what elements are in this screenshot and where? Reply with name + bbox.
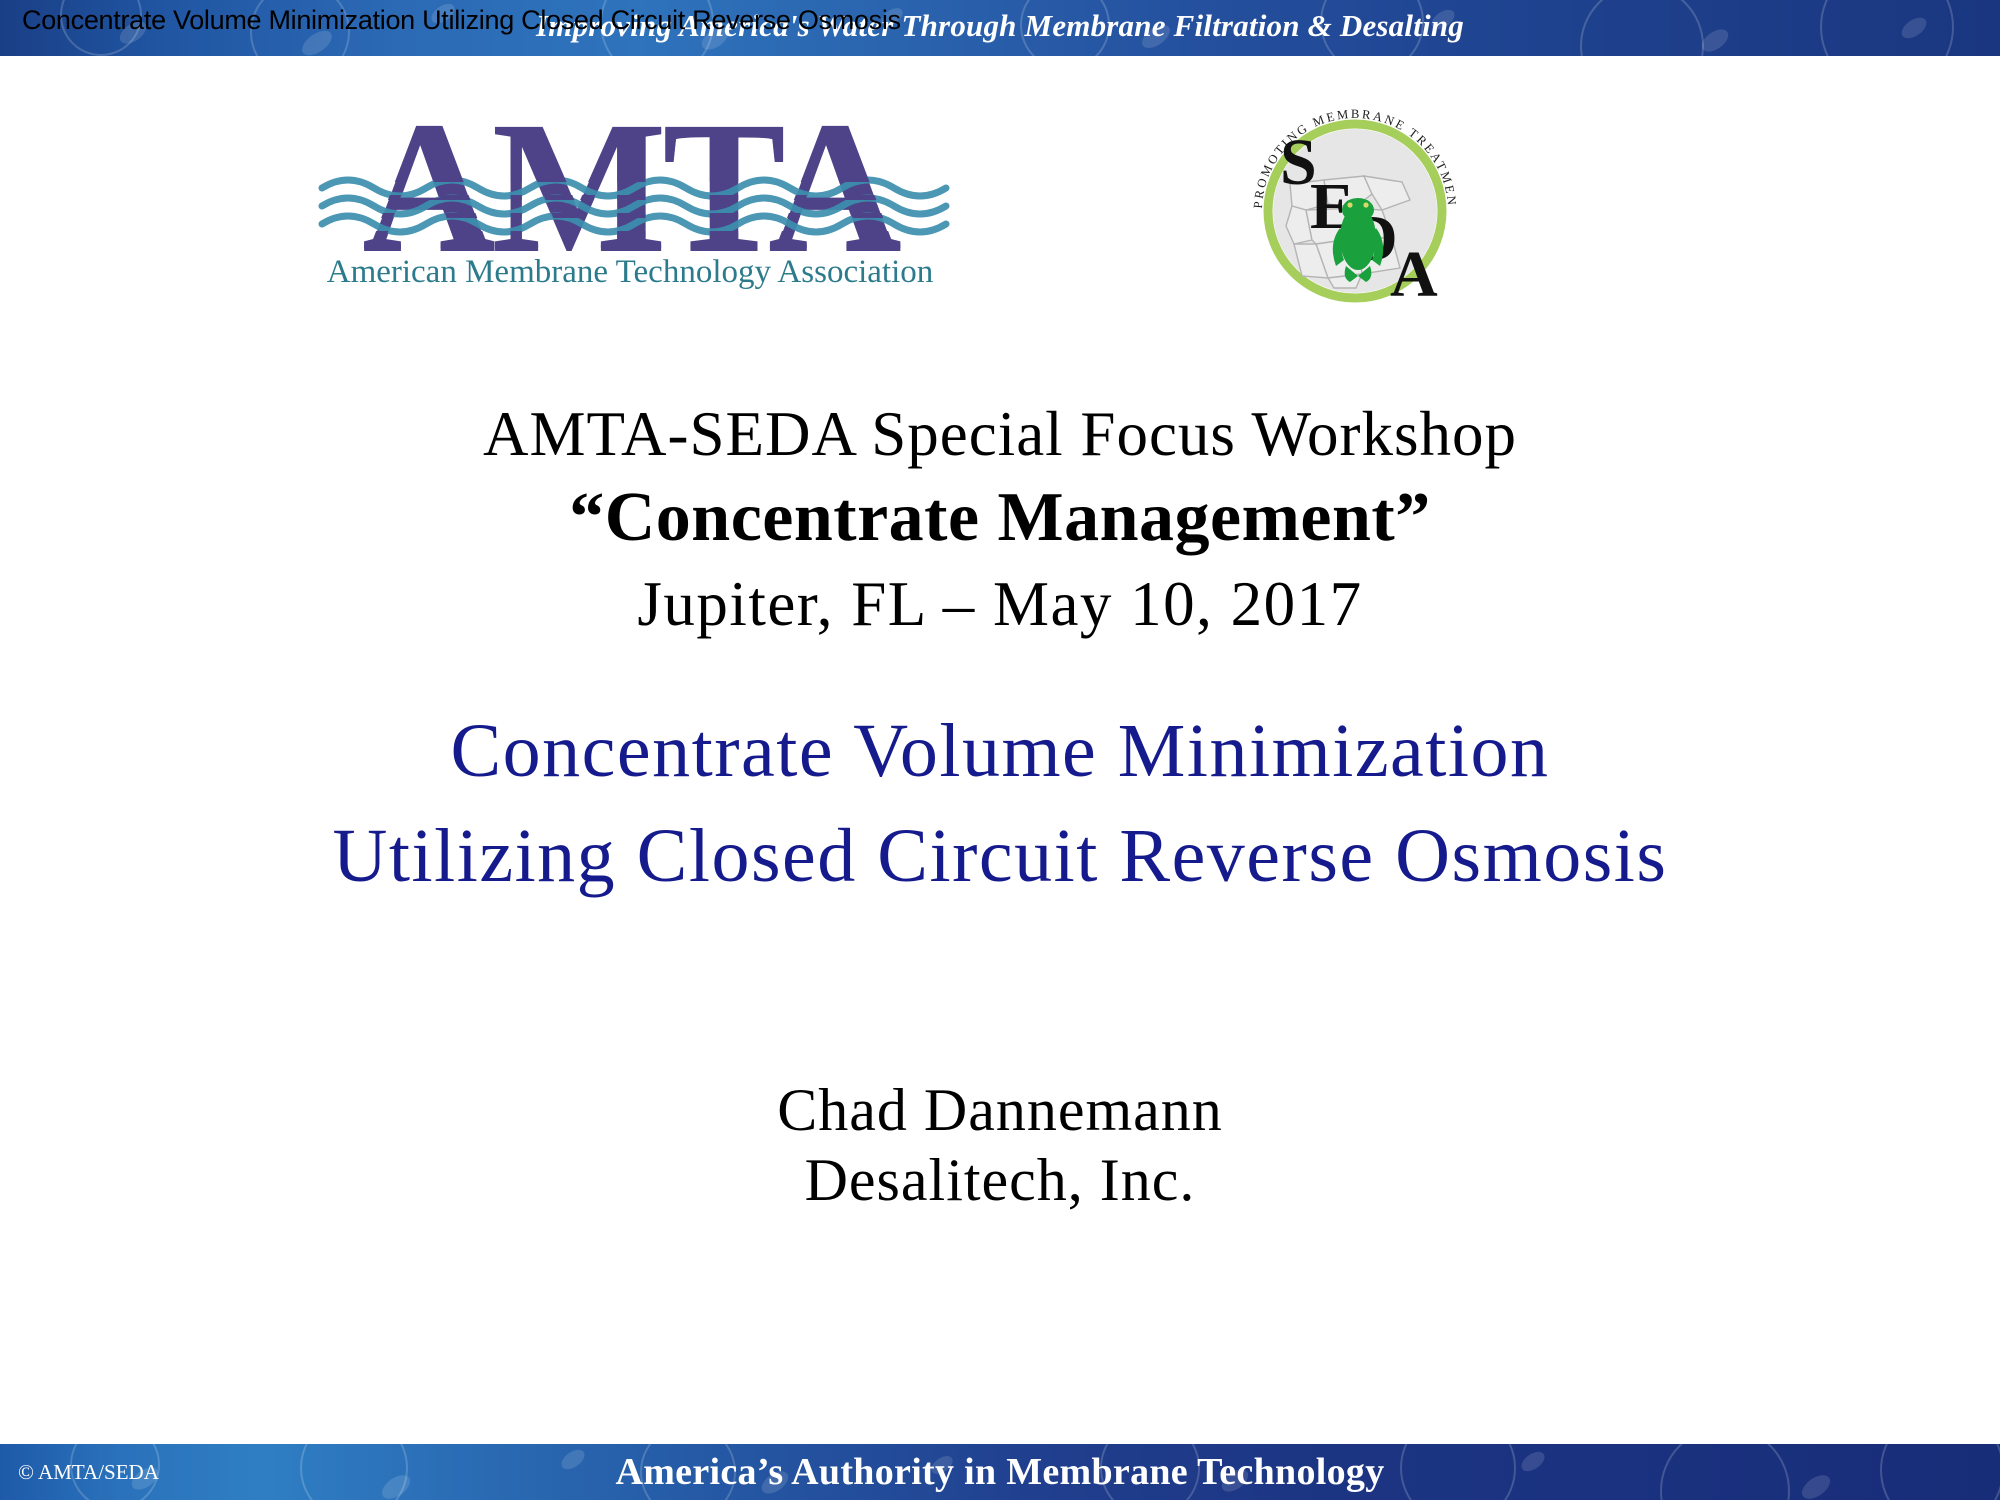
footer-tagline: America’s Authority in Membrane Technolo…	[0, 1450, 2000, 1494]
author-name: Chad Dannemann	[0, 1076, 2000, 1145]
amta-logo: AMTA AMTA American Membrane Technology A…	[300, 96, 960, 311]
top-banner: Improving America's Water Through Membra…	[0, 0, 2000, 56]
svg-text:A: A	[1390, 238, 1438, 311]
presentation-title-line2: Utilizing Closed Circuit Reverse Osmosis	[0, 813, 2000, 900]
workshop-location-date: Jupiter, FL – May 10, 2017	[0, 568, 2000, 641]
seda-logo: SERVING AND PROMOTING MEMBRANE TREATMENT…	[1232, 88, 1478, 334]
workshop-theme: “Concentrate Management”	[0, 478, 2000, 558]
slide-body: AMTA AMTA American Membrane Technology A…	[0, 56, 2000, 1444]
workshop-name: AMTA-SEDA Special Focus Workshop	[0, 398, 2000, 471]
footer-bar: © AMTA/SEDA America’s Authority in Membr…	[0, 1444, 2000, 1500]
author-affiliation: Desalitech, Inc.	[0, 1146, 2000, 1215]
amta-tagline: American Membrane Technology Association	[300, 254, 960, 291]
amta-wordmark-icon: AMTA AMTA	[300, 96, 960, 261]
document-title-overlay: Concentrate Volume Minimization Utilizin…	[22, 5, 901, 36]
presentation-title-line1: Concentrate Volume Minimization	[0, 708, 2000, 795]
svg-text:AMTA: AMTA	[362, 96, 901, 261]
